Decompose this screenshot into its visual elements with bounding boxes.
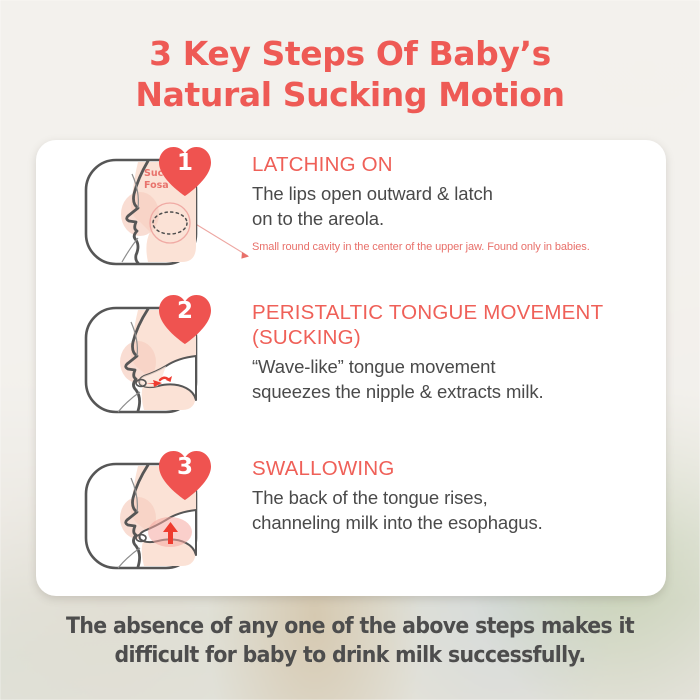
page-title-line-1: 3 Key Steps Of Baby’s: [0, 34, 700, 75]
step-body-2: “Wave-like” tongue movement squeezes the…: [252, 355, 650, 405]
bottom-caption: The absence of any one of the above step…: [25, 612, 676, 671]
step-body-1: The lips open outward & latch on to the …: [252, 182, 650, 232]
step-copy-1: LATCHING ON The lips open outward & latc…: [252, 152, 650, 254]
step-copy-2: PERISTALTIC TONGUE MOVEMENT (SUCKING) “W…: [252, 300, 650, 405]
step-heading-3: SWALLOWING: [252, 456, 650, 481]
bottom-caption-line-1: The absence of any one of the above step…: [25, 612, 676, 641]
step-number-3: 3: [156, 454, 214, 480]
step-badge-1: 1: [156, 144, 214, 198]
step-heading-2: PERISTALTIC TONGUE MOVEMENT (SUCKING): [252, 300, 650, 350]
step-number-1: 1: [156, 150, 214, 176]
step-badge-3: 3: [156, 448, 214, 502]
step-item-3: 3 SWALLOWING The back of the tongue rise…: [36, 456, 666, 591]
step-number-2: 2: [156, 298, 214, 324]
bottom-caption-line-2: difficult for baby to drink milk success…: [25, 641, 676, 670]
step-item-1: Sucking Fosa 1 LATCHING ON The lips open…: [36, 152, 666, 292]
step-heading-1: LATCHING ON: [252, 152, 650, 177]
step-item-2: 2 PERISTALTIC TONGUE MOVEMENT (SUCKING) …: [36, 300, 666, 450]
step-footnote-1: Small round cavity in the center of the …: [252, 241, 650, 254]
step-badge-2: 2: [156, 292, 214, 346]
page-title: 3 Key Steps Of Baby’s Natural Sucking Mo…: [0, 34, 700, 116]
step-copy-3: SWALLOWING The back of the tongue rises,…: [252, 456, 650, 536]
page-title-line-2: Natural Sucking Motion: [0, 75, 700, 116]
step-body-3: The back of the tongue rises, channeling…: [252, 486, 650, 536]
steps-card: Sucking Fosa 1 LATCHING ON The lips open…: [36, 140, 666, 596]
